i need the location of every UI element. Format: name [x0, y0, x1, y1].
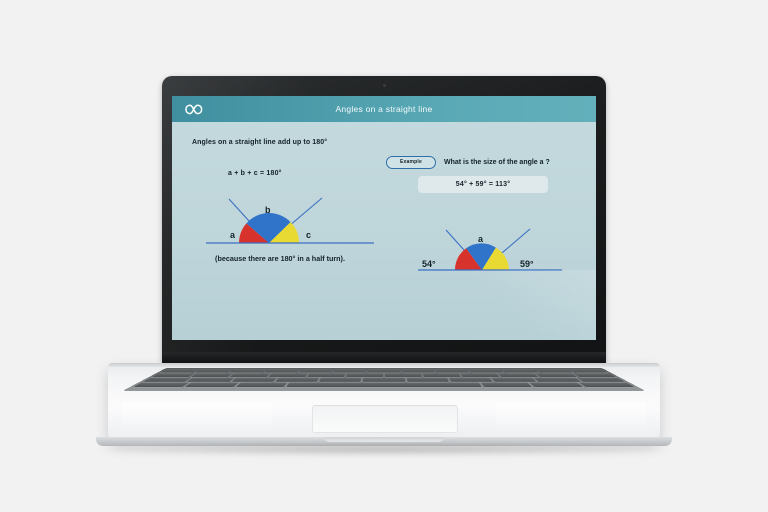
trackpad[interactable]	[312, 405, 458, 433]
key[interactable]	[185, 382, 239, 386]
key[interactable]	[307, 373, 345, 377]
app-screen: Angles on a straight line Angles on a st…	[172, 96, 596, 340]
infinity-icon[interactable]	[182, 102, 208, 116]
label-59: 59°	[520, 259, 534, 269]
key[interactable]	[229, 369, 265, 373]
key[interactable]	[368, 369, 401, 373]
key[interactable]	[160, 369, 198, 373]
key[interactable]	[269, 373, 308, 377]
app-body: Angles on a straight line add up to 180°…	[172, 122, 596, 340]
key[interactable]	[423, 373, 461, 377]
key[interactable]	[195, 369, 232, 373]
key[interactable]	[231, 378, 276, 382]
key[interactable]	[573, 373, 616, 377]
key[interactable]	[449, 378, 493, 382]
page-title: Angles on a straight line	[172, 104, 596, 114]
base-front-notch	[324, 437, 444, 442]
key[interactable]	[480, 382, 532, 386]
key[interactable]	[319, 378, 361, 382]
key[interactable]	[275, 378, 319, 382]
keyboard[interactable]	[123, 368, 646, 391]
laptop-base	[108, 363, 660, 441]
palm-rest-left	[122, 403, 272, 433]
rule-equation: a + b + c = 180°	[228, 170, 282, 177]
key[interactable]	[577, 378, 625, 382]
key[interactable]	[536, 373, 577, 377]
example-answer: 54° + 59° = 113°	[418, 176, 548, 193]
webcam-icon	[383, 84, 386, 87]
example-row: Example What is the size of the angle a …	[386, 156, 550, 169]
example-question: What is the size of the angle a ?	[444, 159, 550, 166]
key[interactable]	[264, 369, 299, 373]
key[interactable]	[435, 369, 469, 373]
key[interactable]	[187, 378, 234, 382]
screenshot-stage: Angles on a straight line Angles on a st…	[0, 0, 768, 512]
rule-caption: (because there are 180° in a half turn).	[190, 254, 370, 263]
key[interactable]	[460, 373, 499, 377]
key[interactable]	[536, 369, 573, 373]
key[interactable]	[385, 373, 422, 377]
key[interactable]	[143, 378, 191, 382]
key[interactable]	[402, 369, 435, 373]
key[interactable]	[502, 369, 538, 373]
key[interactable]	[346, 373, 383, 377]
key[interactable]	[579, 382, 634, 386]
key[interactable]	[530, 382, 584, 386]
label-c: c	[306, 230, 311, 240]
key[interactable]	[406, 378, 448, 382]
app-header: Angles on a straight line	[172, 96, 596, 122]
key[interactable]	[230, 373, 270, 377]
label-a: a	[230, 230, 236, 240]
key[interactable]	[534, 378, 581, 382]
label-b: b	[265, 205, 271, 215]
example-badge[interactable]: Example	[386, 156, 436, 169]
key[interactable]	[570, 369, 608, 373]
key[interactable]	[469, 369, 504, 373]
label-54: 54°	[422, 259, 436, 269]
hinge-strip	[108, 363, 660, 367]
key[interactable]	[492, 378, 537, 382]
key[interactable]	[498, 373, 538, 377]
key[interactable]	[299, 369, 333, 373]
angles-abc-diagram: a b c	[194, 185, 384, 255]
angles-example-diagram: 54° a 59°	[394, 218, 569, 286]
palm-rest-right	[496, 403, 646, 433]
key[interactable]	[152, 373, 195, 377]
key[interactable]	[363, 378, 405, 382]
device-shadow	[90, 444, 680, 456]
spacebar-key[interactable]	[287, 382, 482, 386]
label-a: a	[478, 234, 484, 244]
key[interactable]	[191, 373, 232, 377]
key[interactable]	[134, 382, 189, 386]
laptop-device: Angles on a straight line Angles on a st…	[0, 0, 768, 512]
key[interactable]	[236, 382, 288, 386]
rule-statement: Angles on a straight line add up to 180°	[192, 139, 327, 146]
key[interactable]	[333, 369, 366, 373]
